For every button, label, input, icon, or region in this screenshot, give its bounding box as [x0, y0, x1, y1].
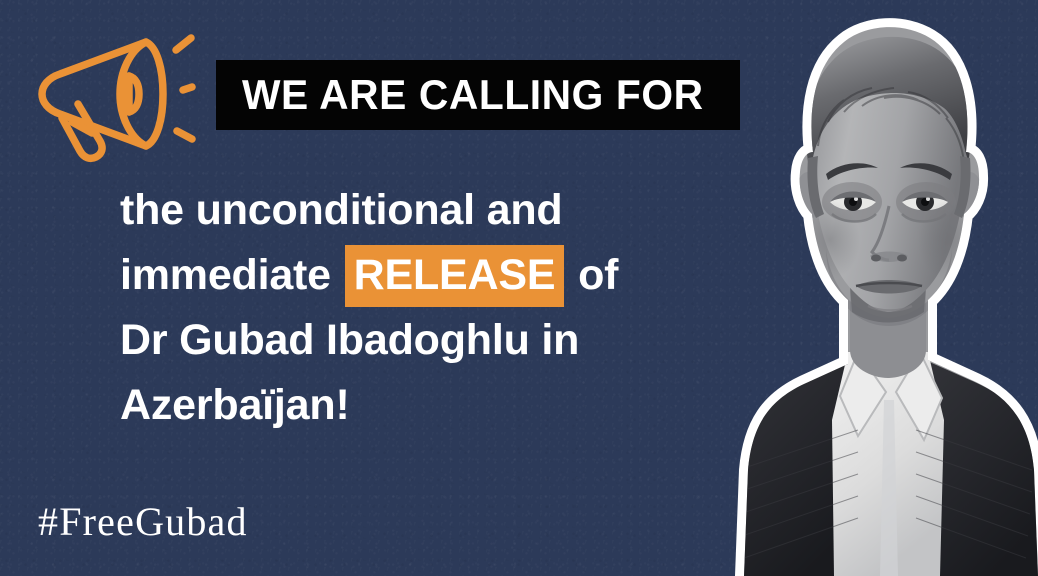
- body-line-2-before: immediate: [120, 251, 331, 299]
- megaphone-icon: [26, 28, 196, 163]
- portrait-photo: [708, 0, 1038, 576]
- body-line-1-text: the unconditional and: [120, 186, 563, 234]
- body-line-2-after: of: [578, 251, 618, 299]
- campaign-poster: WE ARE CALLING FOR the unconditional and…: [0, 0, 1038, 576]
- body-line-2: immediate RELEASE of: [120, 243, 660, 308]
- body-line-1: the unconditional and: [120, 178, 660, 243]
- body-copy: the unconditional and immediate RELEASE …: [120, 178, 660, 438]
- body-line-4: Azerbaïjan!: [120, 373, 660, 438]
- release-highlight: RELEASE: [345, 245, 565, 307]
- body-line-4-text: Azerbaïjan!: [120, 381, 350, 429]
- headline-text: WE ARE CALLING FOR: [242, 74, 704, 116]
- hashtag-freegubad: #FreeGubad: [38, 498, 248, 545]
- body-line-3: Dr Gubad Ibadoghlu in: [120, 308, 660, 373]
- headline-banner: WE ARE CALLING FOR: [216, 60, 740, 130]
- body-line-3-text: Dr Gubad Ibadoghlu in: [120, 316, 579, 364]
